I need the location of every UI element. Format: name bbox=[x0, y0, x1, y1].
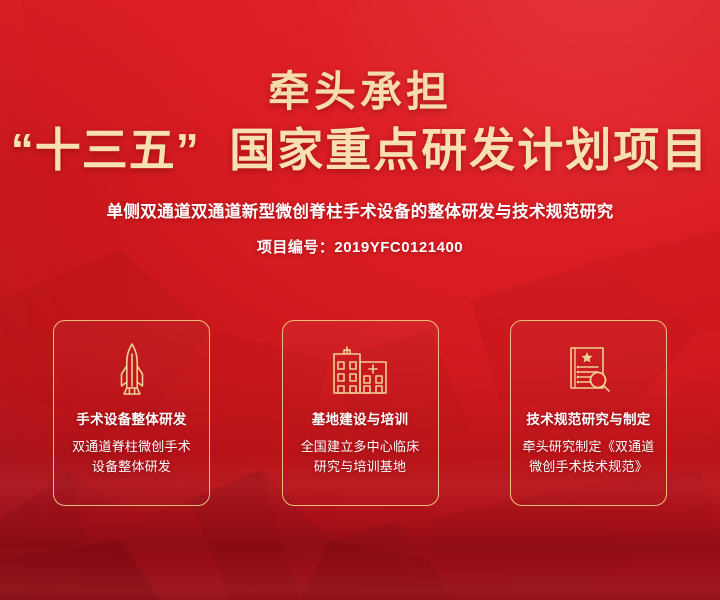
poster-title-quoted-term: “十三五” bbox=[11, 124, 200, 176]
hospital-building-icon bbox=[331, 342, 389, 398]
card-description-line2: 研究与培训基地 bbox=[314, 459, 406, 474]
card-surgical-equipment-rd[interactable]: 手术设备整体研发 双通道脊柱微创手术设备整体研发 bbox=[53, 320, 210, 506]
poster-title-line2: “十三五” 国家重点研发计划项目 bbox=[0, 126, 720, 174]
card-technical-standard-rd[interactable]: 技术规范研究与制定 牵头研究制定《双通道微创手术技术规范》 bbox=[510, 320, 667, 506]
card-title: 技术规范研究与制定 bbox=[526, 408, 650, 428]
card-description-line2: 微创手术技术规范》 bbox=[529, 459, 648, 474]
card-description: 双通道脊柱微创手术设备整体研发 bbox=[66, 437, 198, 477]
card-title: 基地建设与培训 bbox=[312, 408, 409, 428]
document-magnifier-icon bbox=[563, 342, 615, 398]
poster-title-line1: 牵头承担 bbox=[0, 70, 720, 114]
card-base-construction-training[interactable]: 基地建设与培训 全国建立多中心临床研究与培训基地 bbox=[282, 320, 439, 506]
card-list: 手术设备整体研发 双通道脊柱微创手术设备整体研发 bbox=[53, 320, 667, 506]
poster-header: 牵头承担 “十三五” 国家重点研发计划项目 单侧双通道双通道新型微创脊柱手术设备… bbox=[0, 70, 720, 257]
card-description-line1: 双通道脊柱微创手术 bbox=[72, 439, 191, 454]
rocket-icon bbox=[115, 342, 149, 398]
card-description-line2: 设备整体研发 bbox=[92, 459, 171, 474]
poster-subtitle: 单侧双通道双通道新型微创脊柱手术设备的整体研发与技术规范研究 bbox=[0, 198, 720, 222]
poster-banner: 牵头承担 “十三五” 国家重点研发计划项目 单侧双通道双通道新型微创脊柱手术设备… bbox=[0, 0, 720, 600]
card-description-line1: 全国建立多中心临床 bbox=[301, 439, 420, 454]
card-title: 手术设备整体研发 bbox=[76, 408, 186, 428]
card-description-line1: 牵头研究制定《双通道 bbox=[523, 439, 655, 454]
project-number: 项目编号：2019YFC0121400 bbox=[0, 236, 720, 257]
poster-title-program: 国家重点研发计划项目 bbox=[229, 124, 709, 176]
card-description: 牵头研究制定《双通道微创手术技术规范》 bbox=[523, 437, 655, 477]
card-description: 全国建立多中心临床研究与培训基地 bbox=[294, 437, 426, 477]
